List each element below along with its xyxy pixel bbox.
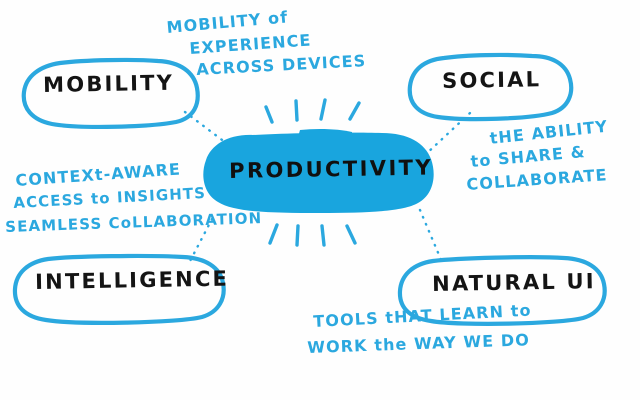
mindmap-canvas: MOBILITY SOCIAL INTELLIGENCE NATURAL UI … [0,0,640,400]
sparkle-below-2 [297,226,298,245]
node-label-mobility: MOBILITY [43,73,174,96]
sparkle-lines-above [266,100,359,122]
sparkle-below-3 [322,226,324,245]
sparkle-above-4 [350,103,359,119]
sparkle-below-4 [347,226,355,243]
sparkle-above-2 [296,101,297,120]
connector-center-naturalui [420,210,442,262]
node-label-naturalui: NATURAL UI [432,271,596,295]
node-label-intelligence: INTELLIGENCE [35,269,229,293]
center-node-label: PRODUCTIVITY [229,157,433,182]
sparkle-lines-below [270,225,355,245]
sparkle-below-1 [270,225,277,243]
sparkle-above-3 [321,100,325,119]
sparkle-above-1 [266,107,272,122]
node-label-social: SOCIAL [442,69,541,92]
